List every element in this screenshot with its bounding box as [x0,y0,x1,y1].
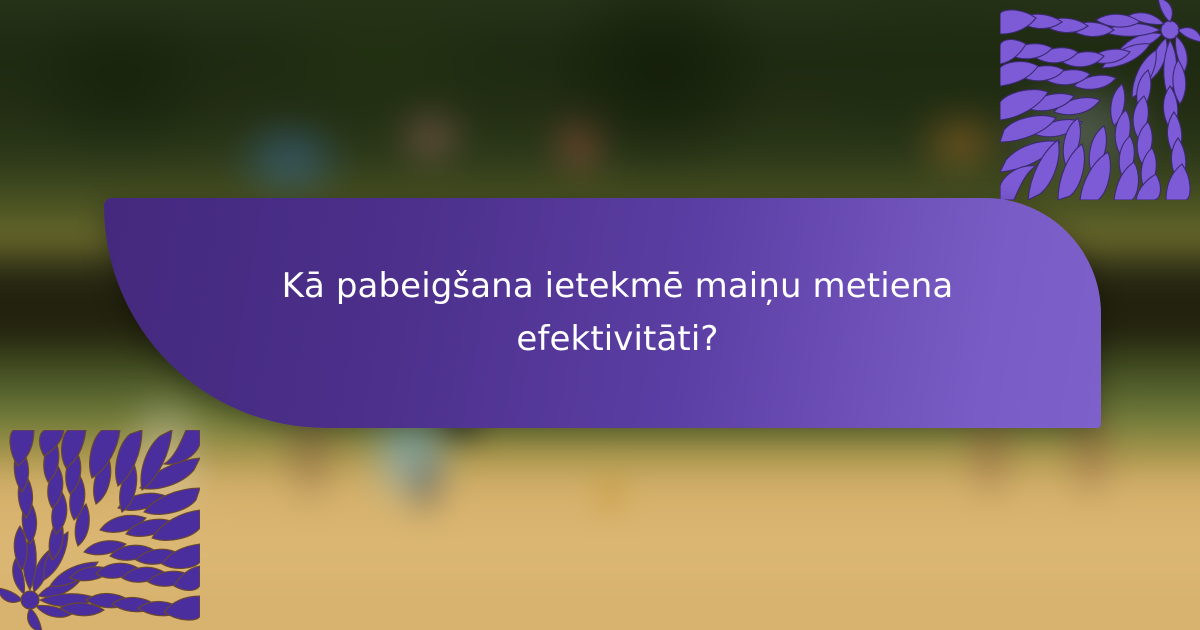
title-banner: Kā pabeigšana ietekmē maiņu metiena efek… [104,198,1101,428]
page-title: Kā pabeigšana ietekmē maiņu metiena efek… [238,260,968,365]
share-card: Kā pabeigšana ietekmē maiņu metiena efek… [0,0,1200,630]
